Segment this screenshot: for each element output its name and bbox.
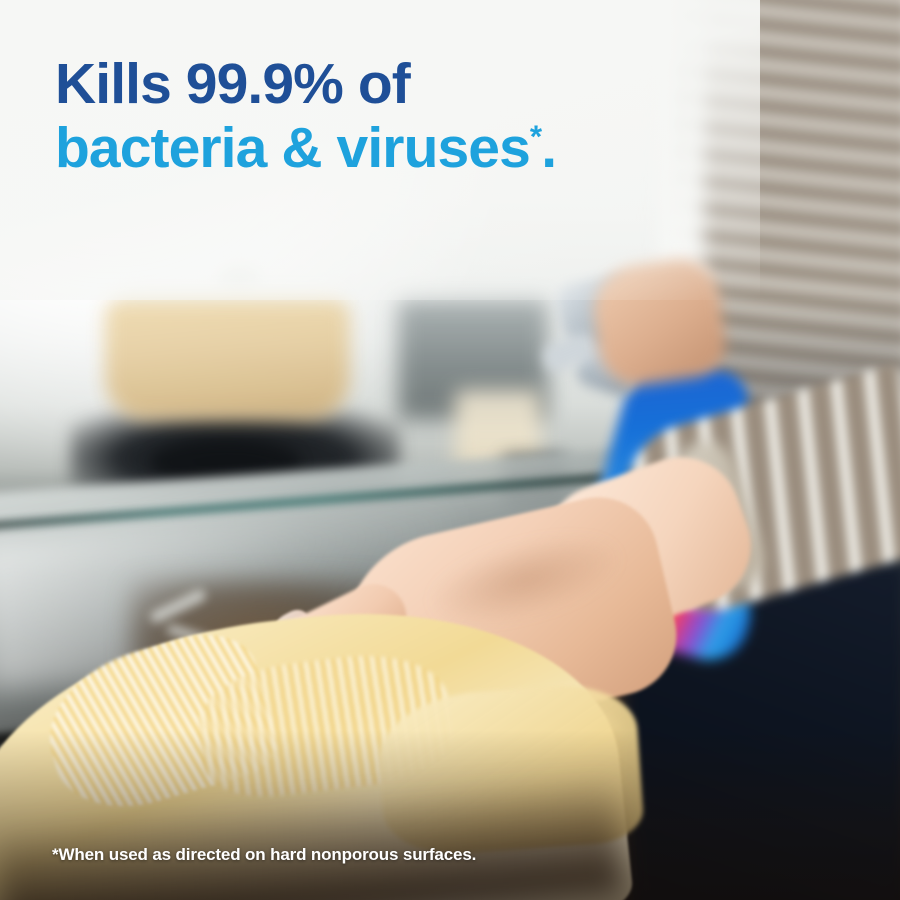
- footnote-disclaimer: *When used as directed on hard nonporous…: [52, 845, 476, 865]
- headline: Kills 99.9% of bacteria & viruses*.: [55, 52, 675, 180]
- advertisement-card: Kills 99.9% of bacteria & viruses*. *Whe…: [0, 0, 900, 900]
- headline-line-2: bacteria & viruses*.: [55, 116, 675, 180]
- cream-pot: [105, 300, 350, 420]
- headline-asterisk: *: [530, 119, 541, 154]
- headline-line-1: Kills 99.9% of: [55, 52, 675, 116]
- headline-line-2-text: bacteria & viruses: [55, 116, 530, 180]
- headline-period: .: [541, 116, 556, 180]
